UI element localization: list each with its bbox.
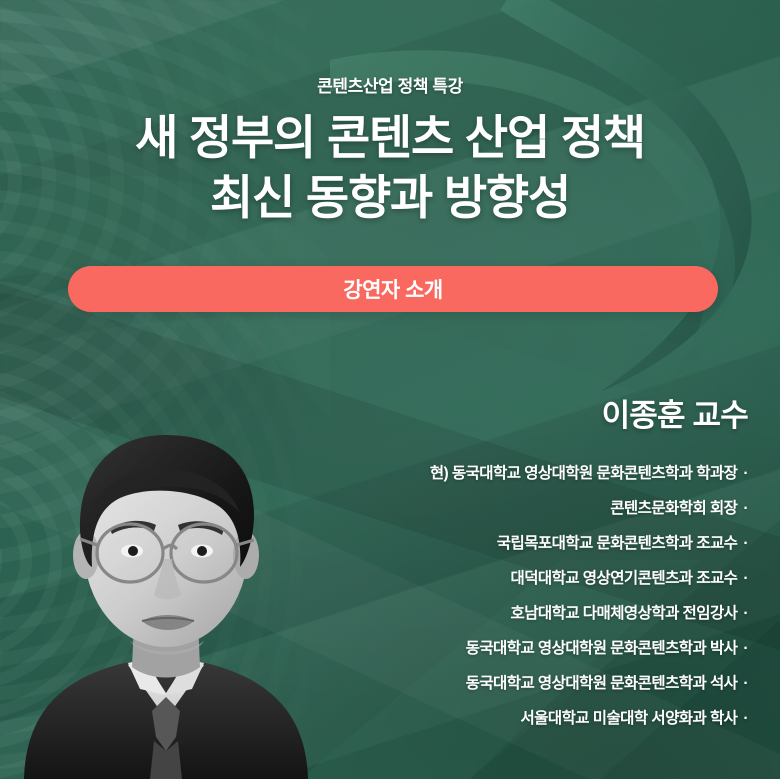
bullet-dot-icon: · — [743, 640, 748, 657]
credential-text: 현) 동국대학교 영상대학원 문화콘텐츠학과 학과장 — [430, 465, 738, 482]
bullet-dot-icon: · — [743, 710, 748, 727]
bullet-dot-icon: · — [743, 535, 748, 552]
title-line-2: 최신 동향과 방향성 — [0, 168, 780, 228]
page-title: 새 정부의 콘텐츠 산업 정책 최신 동향과 방향성 — [0, 108, 780, 228]
kicker-text: 콘텐츠산업 정책 특강 — [0, 72, 780, 97]
bullet-dot-icon: · — [743, 465, 748, 482]
bullet-dot-icon: · — [743, 570, 748, 587]
list-item: 동국대학교 영상대학원 문화콘텐츠학과 석사· — [278, 666, 748, 701]
speaker-portrait-photo — [6, 359, 324, 779]
credential-text: 동국대학교 영상대학원 문화콘텐츠학과 석사 — [466, 675, 738, 692]
bullet-dot-icon: · — [743, 605, 748, 622]
credential-text: 콘텐츠문화학회 회장 — [610, 500, 737, 517]
list-item: 호남대학교 다매체영상학과 전임강사· — [278, 596, 748, 631]
lecture-promo-poster: 콘텐츠산업 정책 특강 새 정부의 콘텐츠 산업 정책 최신 동향과 방향성 강… — [0, 0, 780, 779]
list-item: 국립목포대학교 문화콘텐츠학과 조교수· — [278, 526, 748, 561]
list-item: 동국대학교 영상대학원 문화콘텐츠학과 박사· — [278, 631, 748, 666]
speaker-info-block: 이종훈 교수 현) 동국대학교 영상대학원 문화콘텐츠학과 학과장· 콘텐츠문화… — [278, 396, 748, 736]
bullet-dot-icon: · — [743, 675, 748, 692]
title-line-1: 새 정부의 콘텐츠 산업 정책 — [0, 108, 780, 168]
bullet-dot-icon: · — [743, 500, 748, 517]
credential-text: 국립목포대학교 문화콘텐츠학과 조교수 — [497, 535, 738, 552]
credential-text: 동국대학교 영상대학원 문화콘텐츠학과 박사 — [466, 640, 738, 657]
speaker-credentials-list: 현) 동국대학교 영상대학원 문화콘텐츠학과 학과장· 콘텐츠문화학회 회장· … — [278, 456, 748, 736]
list-item: 서울대학교 미술대학 서양화과 학사· — [278, 701, 748, 736]
list-item: 대덕대학교 영상연기콘텐츠과 조교수· — [278, 561, 748, 596]
speaker-intro-button[interactable]: 강연자 소개 — [68, 266, 718, 312]
credential-text: 대덕대학교 영상연기콘텐츠과 조교수 — [511, 570, 738, 587]
speaker-name: 이종훈 교수 — [278, 396, 748, 436]
list-item: 현) 동국대학교 영상대학원 문화콘텐츠학과 학과장· — [278, 456, 748, 491]
credential-text: 서울대학교 미술대학 서양화과 학사 — [520, 710, 737, 727]
credential-text: 호남대학교 다매체영상학과 전임강사 — [511, 605, 738, 622]
list-item: 콘텐츠문화학회 회장· — [278, 491, 748, 526]
